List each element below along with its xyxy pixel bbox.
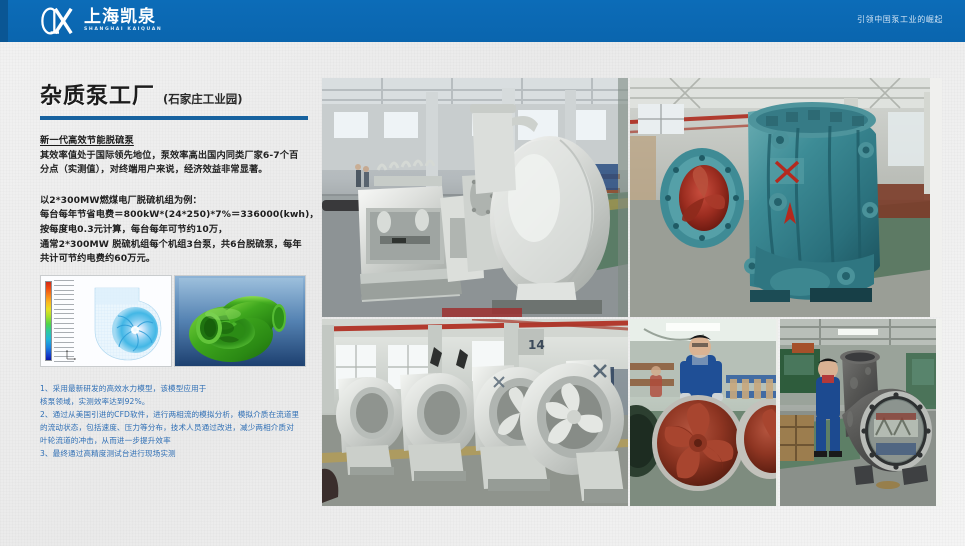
- calc-line: 共计可节约电费约60万元。: [40, 252, 315, 267]
- note-line: 3、最终通过高精度测试台进行现场实测: [40, 447, 320, 460]
- company-logo[interactable]: 上海凯泉 SHANGHAI KAIQUAN: [40, 6, 162, 36]
- green-3d-volute-model: [174, 275, 306, 367]
- intro-heading: 新一代高效节能脱硫泵: [40, 132, 315, 146]
- intro-body: 其效率值处于国际领先地位，泵效率高出国内同类厂家6-7个百 分点（实测值），对终…: [40, 149, 315, 178]
- calc-line: 通常2*300MW 脱硫机组每个机组3台泵，共6台脱硫泵，每年: [40, 238, 315, 253]
- intro-line: 其效率值处于国际领先地位，泵效率高出国内同类厂家6-7个百: [40, 149, 315, 163]
- page-title-main: 杂质泵工厂: [40, 78, 155, 110]
- grey-desulfurization-pump-assembly-photo: [322, 78, 628, 317]
- cfd-image-row: [40, 275, 306, 367]
- pump-casing-row-photo: 14: [322, 319, 628, 506]
- cfd-volute-flow-simulation: [40, 275, 172, 367]
- cfd-volute-contour-plot: [83, 280, 169, 364]
- calc-line: 以2*300MW燃煤电厂脱硫机组为例：: [40, 194, 315, 209]
- technical-notes: 1、采用最新研发的高效水力模型，该模型应用于 核泵领域，实测效率达到92%。 2…: [40, 382, 320, 460]
- header-slogan: 引领中国泵工业的崛起: [857, 14, 943, 25]
- photo-grid: 14: [322, 78, 942, 506]
- calc-line: 每台每年节省电费＝800kW*(24*250)*7%＝336000(kwh)，: [40, 208, 315, 223]
- note-line: 的流动状态，包括速度、压力等分布，技术人员通过改进，减少两相介质对: [40, 421, 320, 434]
- svg-text:14: 14: [528, 338, 545, 352]
- intro-line: 分点（实测值），对终端用户来说，经济效益非常显著。: [40, 163, 315, 177]
- calc-line: 按每度电0.3元计算，每台每年可节约10万，: [40, 223, 315, 238]
- volute-3d-render: [179, 278, 303, 366]
- page-title-sub: (石家庄工业园): [163, 91, 243, 107]
- header-accent-bar: [0, 0, 8, 42]
- cfd-axis-triad-icon: [65, 348, 77, 360]
- note-line: 2、通过从美国引进的CFD软件，进行两相流的模拟分析，模拟介质在流道里: [40, 408, 320, 421]
- title-underline-rule: [40, 116, 308, 120]
- raw-casting-volute-photo: [780, 319, 942, 506]
- red-impeller-photo: [630, 319, 778, 506]
- page-header: 上海凯泉 SHANGHAI KAIQUAN 引领中国泵工业的崛起: [0, 0, 965, 42]
- slide-root: 上海凯泉 SHANGHAI KAIQUAN 引领中国泵工业的崛起 杂质泵工厂 (…: [0, 0, 965, 546]
- intro-paragraph: 新一代高效节能脱硫泵 其效率值处于国际领先地位，泵效率高出国内同类厂家6-7个百…: [40, 132, 315, 178]
- teal-slurry-pump-photo: [630, 78, 942, 317]
- cfd-color-scale-bar: [45, 281, 52, 361]
- note-line: 核泵领域，实测效率达到92%。: [40, 395, 320, 408]
- logo-english-name: SHANGHAI KAIQUAN: [84, 28, 162, 33]
- note-line: 1、采用最新研发的高效水力模型，该模型应用于: [40, 382, 320, 395]
- logo-chinese-name: 上海凯泉: [84, 9, 162, 26]
- left-content-column: 杂质泵工厂 (石家庄工业园) 新一代高效节能脱硫泵 其效率值处于国际领先地位，泵…: [40, 78, 315, 267]
- savings-calculation: 以2*300MW燃煤电厂脱硫机组为例： 每台每年节省电费＝800kW*(24*2…: [40, 194, 315, 268]
- kaiquan-mark-icon: [40, 6, 78, 36]
- page-title: 杂质泵工厂 (石家庄工业园): [40, 78, 315, 110]
- note-line: 叶轮流道的冲击，从而进一步提升效率: [40, 434, 320, 447]
